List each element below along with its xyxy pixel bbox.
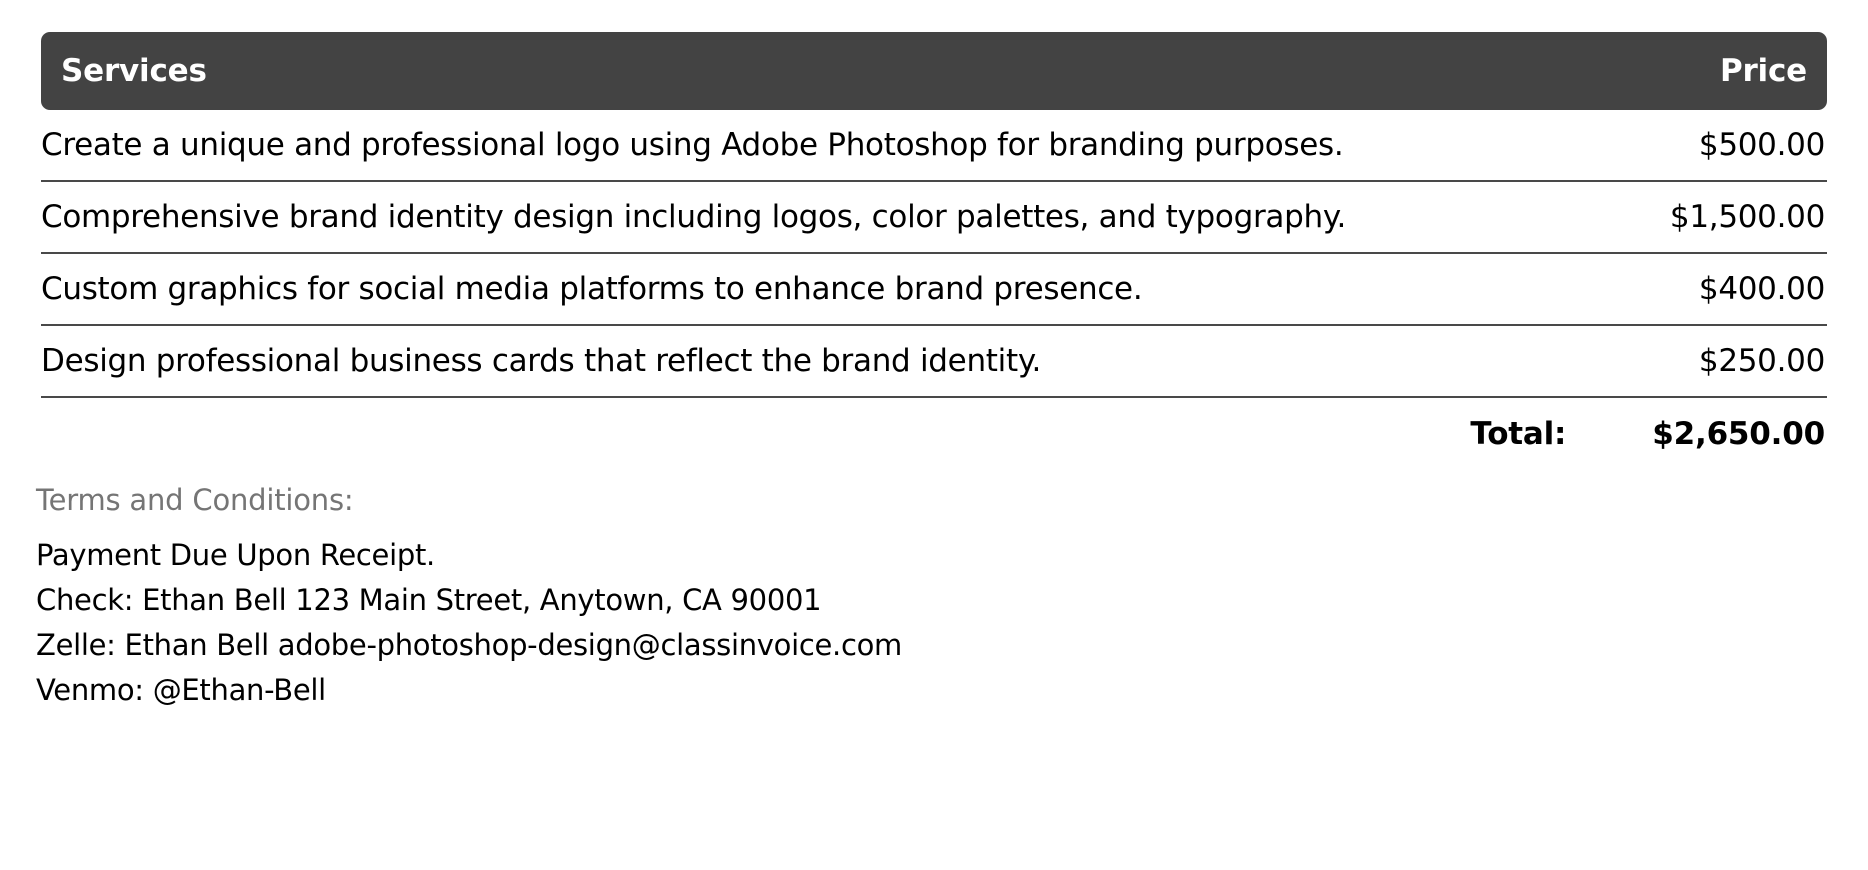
services-price-table: Services Price Create a unique and profe…: [41, 32, 1827, 470]
service-price: $400.00: [1675, 272, 1825, 306]
service-price: $250.00: [1675, 344, 1825, 378]
table-total-row: Total: $2,650.00: [41, 398, 1827, 470]
total-amount: $2,650.00: [1652, 416, 1825, 452]
terms-line-zelle: Zelle: Ethan Bell adobe-photoshop-design…: [36, 623, 1536, 668]
total-label: Total:: [1470, 416, 1566, 452]
service-description: Create a unique and professional logo us…: [41, 128, 1675, 162]
service-description: Custom graphics for social media platfor…: [41, 272, 1675, 306]
terms-line-payment-due: Payment Due Upon Receipt.: [36, 533, 1536, 578]
column-header-price: Price: [1720, 56, 1807, 87]
service-price: $1,500.00: [1646, 200, 1825, 234]
terms-title: Terms and Conditions:: [36, 486, 1536, 515]
column-header-services: Services: [61, 56, 207, 87]
service-price: $500.00: [1675, 128, 1825, 162]
service-description: Design professional business cards that …: [41, 344, 1675, 378]
table-row: Create a unique and professional logo us…: [41, 110, 1827, 182]
terms-line-check: Check: Ethan Bell 123 Main Street, Anyto…: [36, 578, 1536, 623]
invoice-page: Services Price Create a unique and profe…: [0, 0, 1868, 870]
table-row: Comprehensive brand identity design incl…: [41, 182, 1827, 254]
table-row: Custom graphics for social media platfor…: [41, 254, 1827, 326]
table-header-row: Services Price: [41, 32, 1827, 110]
table-row: Design professional business cards that …: [41, 326, 1827, 398]
service-description: Comprehensive brand identity design incl…: [41, 200, 1646, 234]
terms-line-venmo: Venmo: @Ethan-Bell: [36, 668, 1536, 713]
terms-and-conditions-section: Terms and Conditions: Payment Due Upon R…: [36, 486, 1536, 713]
